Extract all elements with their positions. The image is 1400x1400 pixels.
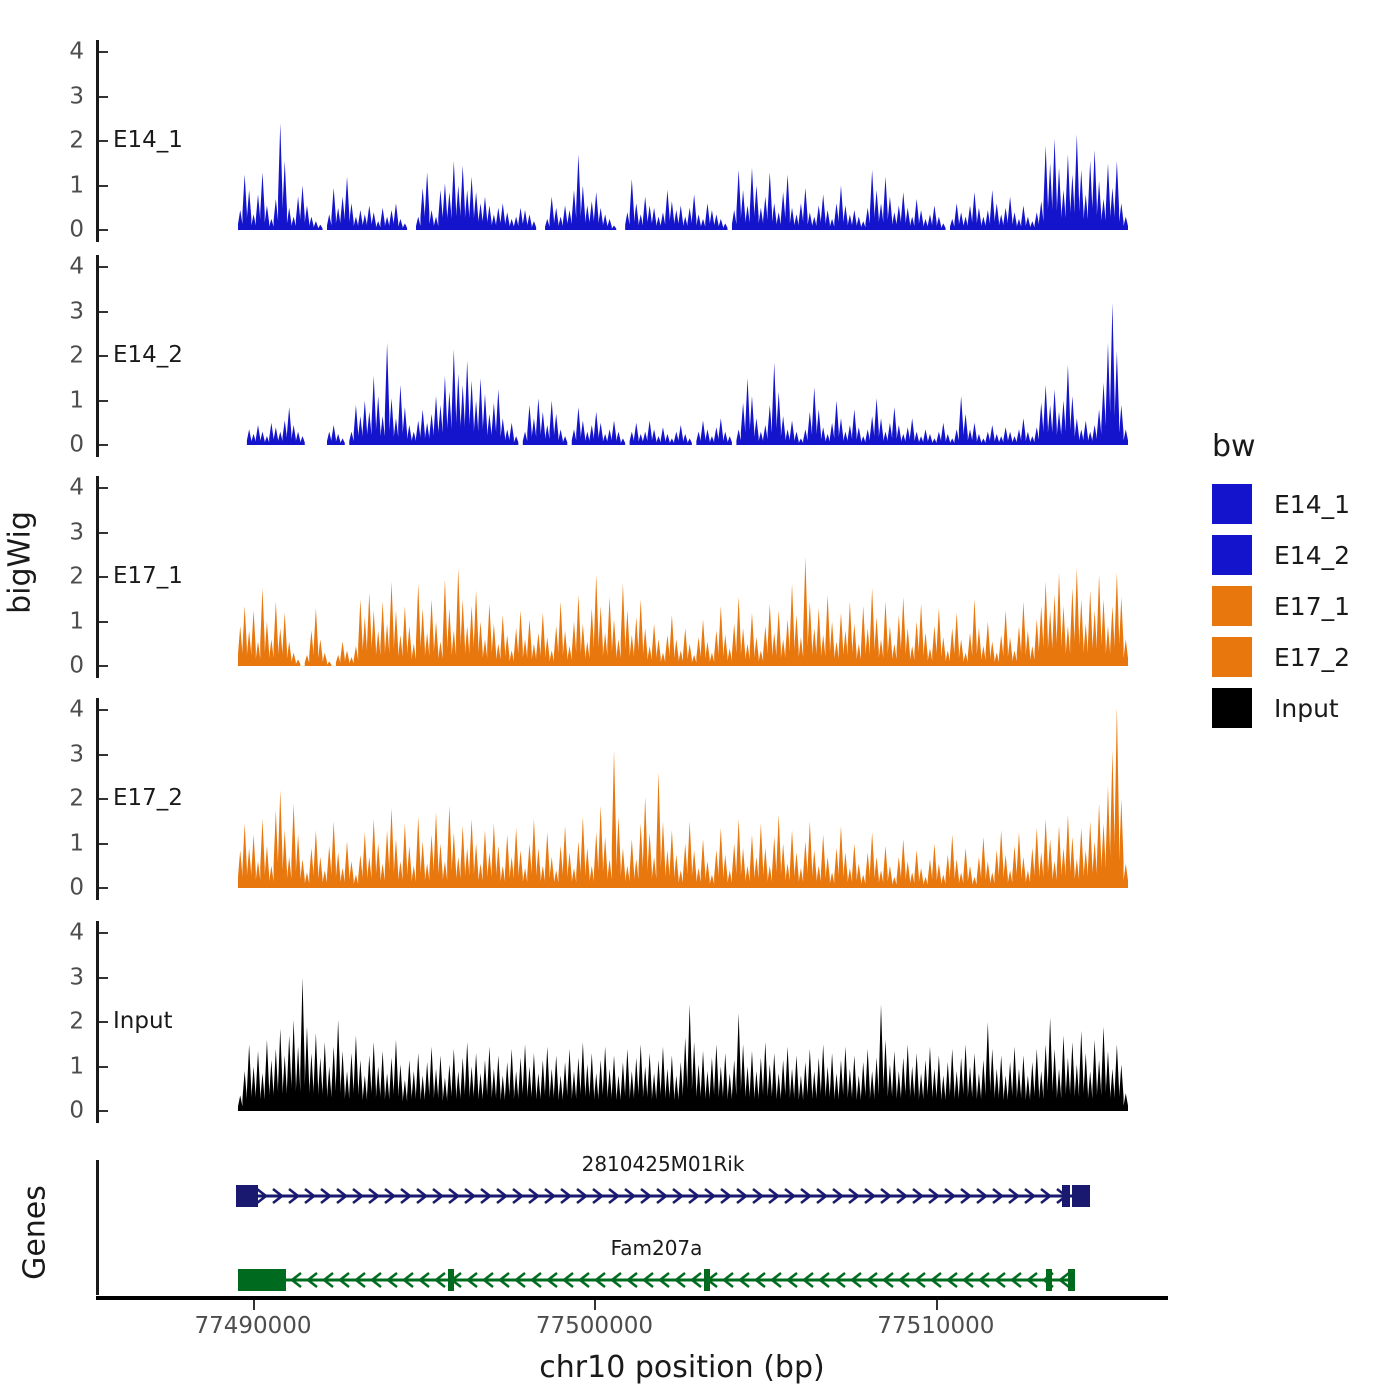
y-tick-mark — [99, 798, 108, 800]
y-tick-label: 3 — [44, 85, 84, 108]
gene-label-2810425M01Rik: 2810425M01Rik — [582, 1154, 745, 1174]
y-tick-label: 1 — [44, 832, 84, 855]
y-tick-label: 1 — [44, 1055, 84, 1078]
legend-item-E17_1[interactable]: E17_1 — [1212, 586, 1350, 626]
coverage-area — [238, 303, 1128, 445]
y-tick-label: 1 — [44, 389, 84, 412]
gene-label-Fam207a: Fam207a — [611, 1238, 703, 1258]
gene-model-Fam207a[interactable] — [0, 1263, 1200, 1297]
y-tick-mark — [99, 51, 108, 53]
coverage-area — [238, 978, 1128, 1112]
y-tick-mark — [99, 266, 108, 268]
y-tick-label: 3 — [44, 521, 84, 544]
legend-item-label: E17_1 — [1274, 594, 1350, 619]
track-strip-label-E14_2: E14_2 — [113, 344, 183, 367]
y-tick-label: 4 — [44, 41, 84, 64]
legend-item-E14_2[interactable]: E14_2 — [1212, 535, 1350, 575]
coverage-track-E17_1 — [238, 488, 1128, 668]
y-tick-mark — [99, 576, 108, 578]
coverage-area — [238, 710, 1128, 888]
legend-item-E14_1[interactable]: E14_1 — [1212, 484, 1350, 524]
track-strip-label-Input: Input — [113, 1010, 173, 1033]
y-tick-mark — [99, 229, 108, 231]
y-tick-label: 0 — [44, 877, 84, 900]
y-tick-mark — [99, 311, 108, 313]
y-tick-label: 1 — [44, 610, 84, 633]
y-tick-label: 4 — [44, 922, 84, 945]
x-axis-title: chr10 position (bp) — [382, 1350, 982, 1385]
y-tick-label: 0 — [44, 434, 84, 457]
y-tick-mark — [99, 1021, 108, 1023]
legend-item-label: E17_2 — [1274, 645, 1350, 670]
gene-exon — [1072, 1185, 1090, 1207]
gene-model-2810425M01Rik[interactable] — [0, 1179, 1200, 1213]
y-tick-label: 2 — [44, 130, 84, 153]
y-tick-mark — [99, 754, 108, 756]
x-tick-label: 77510000 — [877, 1313, 994, 1339]
legend-item-Input[interactable]: Input — [1212, 688, 1339, 728]
gene-exon — [1068, 1269, 1075, 1291]
y-tick-label: 0 — [44, 219, 84, 242]
y-tick-mark — [99, 444, 108, 446]
legend-item-label: E14_2 — [1274, 543, 1350, 568]
coverage-area — [238, 557, 1128, 666]
y-tick-mark — [99, 665, 108, 667]
x-tick-label: 77490000 — [194, 1313, 311, 1339]
y-tick-mark — [99, 400, 108, 402]
y-tick-mark — [99, 487, 108, 489]
y-tick-label: 4 — [44, 477, 84, 500]
y-tick-mark — [99, 140, 108, 142]
y-tick-mark — [99, 1066, 108, 1068]
y-tick-mark — [99, 532, 108, 534]
legend-item-label: Input — [1274, 696, 1339, 721]
track-strip-label-E17_2: E17_2 — [113, 787, 183, 810]
gene-exon — [238, 1269, 286, 1291]
y-tick-label: 2 — [44, 566, 84, 589]
y-tick-mark — [99, 887, 108, 889]
coverage-track-E17_2 — [238, 710, 1128, 890]
gene-exon — [1062, 1185, 1070, 1207]
y-tick-label: 3 — [44, 966, 84, 989]
x-tick-label: 77500000 — [536, 1313, 653, 1339]
y-tick-mark — [99, 185, 108, 187]
y-tick-mark — [99, 977, 108, 979]
x-tick-mark — [936, 1300, 938, 1310]
track-strip-label-E17_1: E17_1 — [113, 565, 183, 588]
y-tick-label: 3 — [44, 743, 84, 766]
coverage-track-Input — [238, 933, 1128, 1113]
gene-exon — [704, 1269, 710, 1291]
y-tick-label: 2 — [44, 1011, 84, 1034]
coverage-area — [238, 123, 1128, 230]
legend-color-swatch — [1212, 586, 1252, 626]
y-tick-mark — [99, 96, 108, 98]
coverage-track-E14_2 — [238, 267, 1128, 447]
y-tick-label: 4 — [44, 699, 84, 722]
x-tick-mark — [594, 1300, 596, 1310]
x-axis-line — [96, 1296, 1168, 1300]
legend-title: bw — [1212, 432, 1256, 462]
track-strip-label-E14_1: E14_1 — [113, 129, 183, 152]
y-tick-mark — [99, 355, 108, 357]
y-tick-label: 0 — [44, 655, 84, 678]
y-tick-label: 3 — [44, 300, 84, 323]
y-tick-mark — [99, 621, 108, 623]
legend-color-swatch — [1212, 484, 1252, 524]
y-tick-label: 2 — [44, 345, 84, 368]
legend-color-swatch — [1212, 637, 1252, 677]
x-tick-mark — [253, 1300, 255, 1310]
gene-exon — [236, 1185, 258, 1207]
y-tick-label: 4 — [44, 256, 84, 279]
y-tick-mark — [99, 709, 108, 711]
legend-color-swatch — [1212, 535, 1252, 575]
coverage-track-E14_1 — [238, 52, 1128, 232]
y-tick-mark — [99, 843, 108, 845]
y-tick-label: 2 — [44, 788, 84, 811]
y-axis-title-bigwig: bigWig — [3, 503, 38, 623]
legend-item-E17_2[interactable]: E17_2 — [1212, 637, 1350, 677]
legend-item-label: E14_1 — [1274, 492, 1350, 517]
y-tick-mark — [99, 1110, 108, 1112]
y-tick-label: 1 — [44, 174, 84, 197]
y-tick-mark — [99, 932, 108, 934]
gene-exon — [448, 1269, 454, 1291]
gene-exon — [1046, 1269, 1052, 1291]
legend-color-swatch — [1212, 688, 1252, 728]
legend: bw E14_1E14_2E17_1E17_2Input — [1212, 432, 1392, 732]
y-tick-label: 0 — [44, 1100, 84, 1123]
